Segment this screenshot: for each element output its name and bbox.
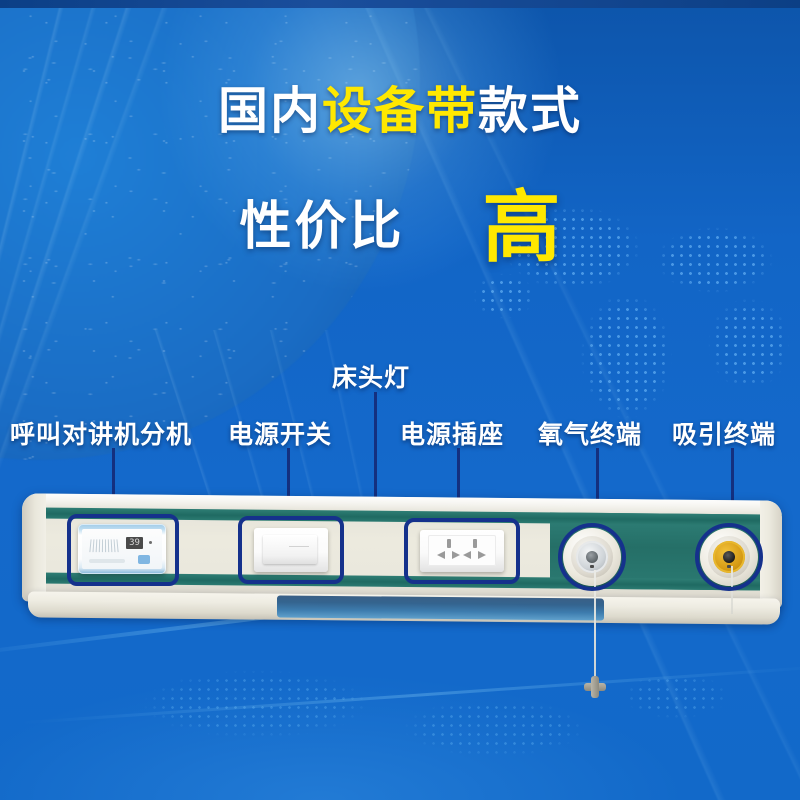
oxygen-terminal-device[interactable] xyxy=(563,528,621,586)
headline-part-2: 设备带 xyxy=(322,83,478,139)
headline-part-3: 款式 xyxy=(478,83,582,139)
socket-pin-vertical-icon xyxy=(473,539,477,548)
subheadline-text: 性价比 xyxy=(239,184,404,259)
callout-label-bedlamp: 床头灯 xyxy=(332,358,410,394)
panel-left-endcap xyxy=(22,493,46,601)
rocker-marker-line xyxy=(289,546,309,547)
oxygen-port-face xyxy=(576,541,608,573)
suction-port-hole-icon xyxy=(723,551,735,563)
power-switch-device[interactable] xyxy=(254,528,328,572)
headline-secondary: 性价比高 xyxy=(0,165,800,277)
oxygen-port-marker xyxy=(590,565,594,568)
socket-pin-left-icon xyxy=(437,551,445,559)
product-banner: 国内设备带款式 性价比高 呼叫对讲机分机 电源开关 床头灯 电源插座 氧气终端 … xyxy=(0,0,800,800)
power-socket-device[interactable] xyxy=(420,530,504,572)
cord-weight-vertical xyxy=(591,676,599,698)
indicator-led-icon xyxy=(149,541,152,544)
headline-primary: 国内设备带款式 xyxy=(0,86,800,136)
panel-right-endcap xyxy=(760,500,782,608)
panel-rail-blue-insert xyxy=(277,595,604,620)
suction-port-face xyxy=(713,541,745,573)
pull-cord-oxygen[interactable] xyxy=(594,570,596,682)
pull-cord-weight[interactable] xyxy=(584,676,606,698)
socket-pin-left-icon xyxy=(463,551,471,559)
socket-pin-right-icon xyxy=(478,551,486,559)
socket-outlet-right[interactable] xyxy=(462,539,488,561)
intercom-vent-slot xyxy=(89,559,125,563)
oxygen-port-hole-icon xyxy=(586,551,598,563)
pull-cord-suction[interactable] xyxy=(731,566,733,614)
top-band xyxy=(0,0,800,8)
callout-label-switch: 电源开关 xyxy=(228,415,332,451)
socket-pin-vertical-icon xyxy=(447,539,451,548)
socket-outlet-left[interactable] xyxy=(436,539,462,561)
nurse-call-intercom-device[interactable]: 39 xyxy=(78,524,166,574)
suction-terminal-device[interactable] xyxy=(700,528,758,586)
callout-label-socket: 电源插座 xyxy=(400,415,504,451)
callout-label-suction: 吸引终端 xyxy=(672,415,776,451)
intercom-faceplate: 39 xyxy=(82,529,162,569)
socket-pin-right-icon xyxy=(452,551,460,559)
socket-faceplate xyxy=(428,535,496,566)
headline-part-1: 国内 xyxy=(218,83,322,139)
callout-label-oxygen: 氧气终端 xyxy=(538,415,642,451)
intercom-call-button[interactable] xyxy=(138,555,150,564)
rocker-switch-paddle[interactable] xyxy=(263,535,317,564)
callout-label-intercom: 呼叫对讲机分机 xyxy=(10,415,192,451)
speaker-grille-icon xyxy=(89,539,118,552)
intercom-display: 39 xyxy=(126,537,143,549)
subheadline-emphasis: 高 xyxy=(483,165,561,277)
